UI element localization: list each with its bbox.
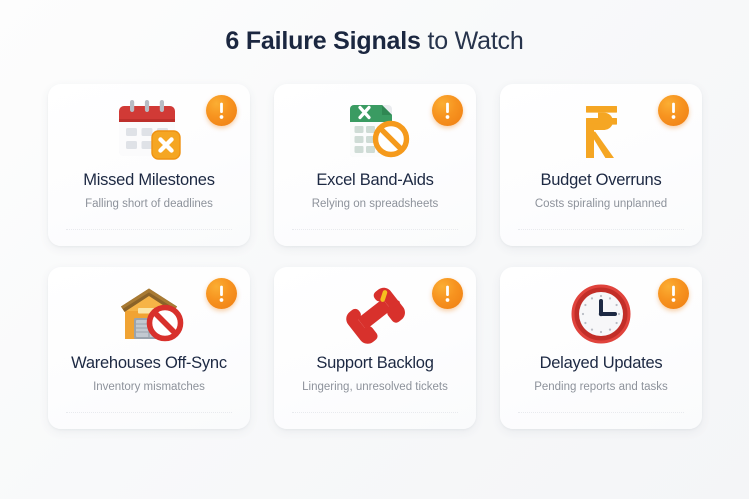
warning-exclamation-icon [658, 95, 689, 126]
card-subtitle: Falling short of deadlines [48, 198, 250, 210]
card-divider [518, 229, 684, 230]
warning-exclamation-icon [658, 278, 689, 309]
card-divider [66, 412, 232, 413]
card-title: Delayed Updates [500, 354, 702, 373]
card-subtitle: Costs spiraling unplanned [500, 198, 702, 210]
signal-card-warehouses-off-sync[interactable]: Warehouses Off-Sync Inventory mismatches [48, 267, 250, 429]
page-title-light: to Watch [421, 27, 524, 55]
card-divider [292, 412, 458, 413]
warning-exclamation-icon [206, 278, 237, 309]
page-title-strong: 6 Failure Signals [225, 27, 420, 55]
card-divider [66, 229, 232, 230]
signal-card-delayed-updates[interactable]: Delayed Updates Pending reports and task… [500, 267, 702, 429]
card-title: Missed Milestones [48, 171, 250, 190]
warning-exclamation-icon [206, 95, 237, 126]
card-title: Support Backlog [274, 354, 476, 373]
card-divider [292, 229, 458, 230]
card-title: Warehouses Off-Sync [48, 354, 250, 373]
card-subtitle: Pending reports and tasks [500, 381, 702, 393]
infographic-page: 6 Failure Signals to Watch [0, 0, 749, 499]
signal-card-budget-overruns[interactable]: Budget Overruns Costs spiraling unplanne… [500, 84, 702, 246]
card-title: Excel Band-Aids [274, 171, 476, 190]
signal-card-grid: Missed Milestones Falling short of deadl… [48, 84, 702, 429]
card-subtitle: Lingering, unresolved tickets [274, 381, 476, 393]
page-title: 6 Failure Signals to Watch [0, 0, 749, 56]
card-title: Budget Overruns [500, 171, 702, 190]
card-subtitle: Inventory mismatches [48, 381, 250, 393]
warning-exclamation-icon [432, 278, 463, 309]
card-subtitle: Relying on spreadsheets [274, 198, 476, 210]
warning-exclamation-icon [432, 95, 463, 126]
signal-card-excel-band-aids[interactable]: Excel Band-Aids Relying on spreadsheets [274, 84, 476, 246]
card-divider [518, 412, 684, 413]
signal-card-missed-milestones[interactable]: Missed Milestones Falling short of deadl… [48, 84, 250, 246]
signal-card-support-backlog[interactable]: Support Backlog Lingering, unresolved ti… [274, 267, 476, 429]
